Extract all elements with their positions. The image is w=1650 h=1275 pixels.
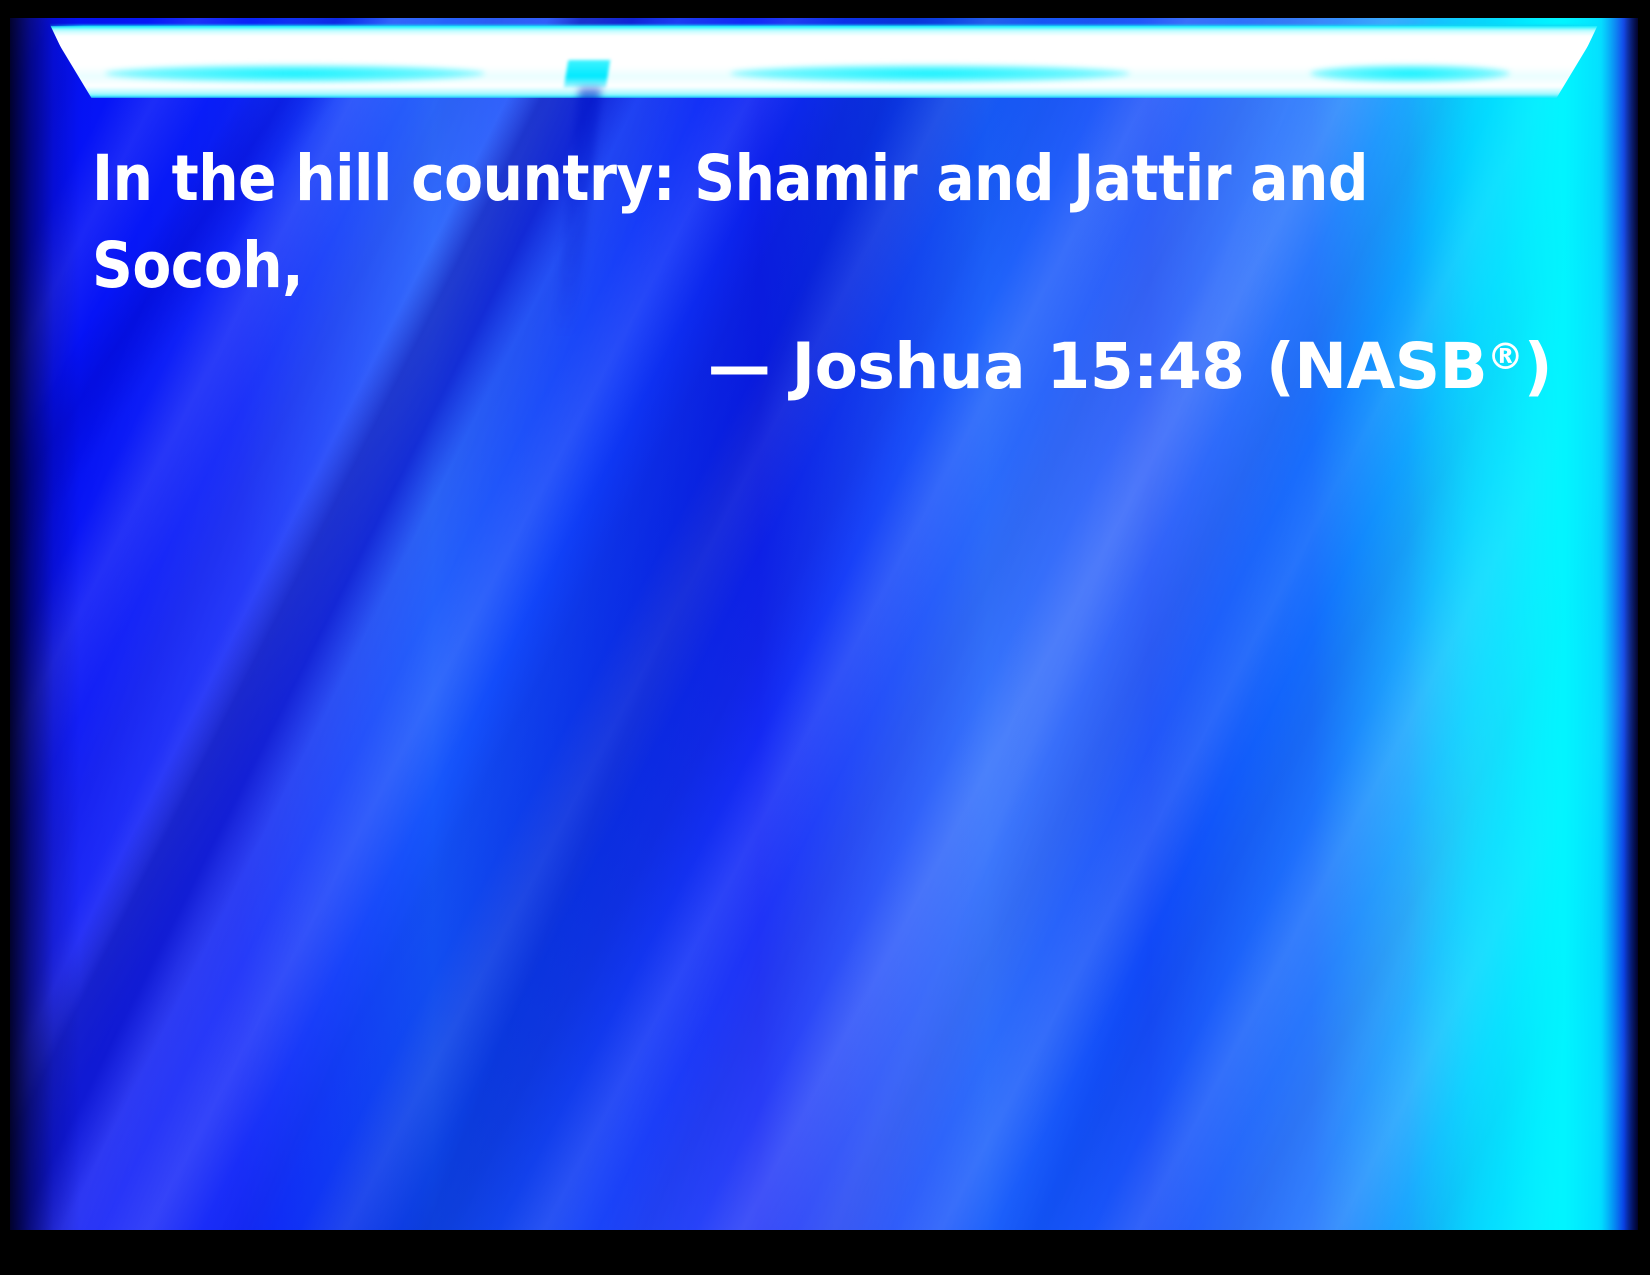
banner-wisp-left [105,65,485,82]
banner-wisp-right [1310,65,1510,82]
top-banner [10,18,1638,98]
reference-chapter-verse: 15:48 [1047,330,1245,403]
verse-block: In the hill country: Shamir and Jattir a… [92,136,1562,401]
slide-canvas: In the hill country: Shamir and Jattir a… [10,18,1638,1230]
verse-reference: — Joshua 15:48 (NASB®) [92,332,1562,401]
registered-trademark-icon: ® [1487,335,1524,378]
background-left-shade [10,18,80,1230]
reference-translation-close: ) [1524,330,1552,403]
reference-spacer-1 [770,330,791,403]
reference-dash: — [708,330,771,403]
verse-text: In the hill country: Shamir and Jattir a… [92,136,1562,310]
scripture-slide: In the hill country: Shamir and Jattir a… [0,0,1650,1275]
reference-spacer-3 [1245,330,1266,403]
banner-wisp-center [730,65,1130,82]
reference-translation-open: (NASB [1266,330,1487,403]
reference-spacer-2 [1025,330,1046,403]
banner-notch [564,60,610,88]
banner-fill [48,26,1600,98]
reference-book: Joshua [792,330,1025,403]
